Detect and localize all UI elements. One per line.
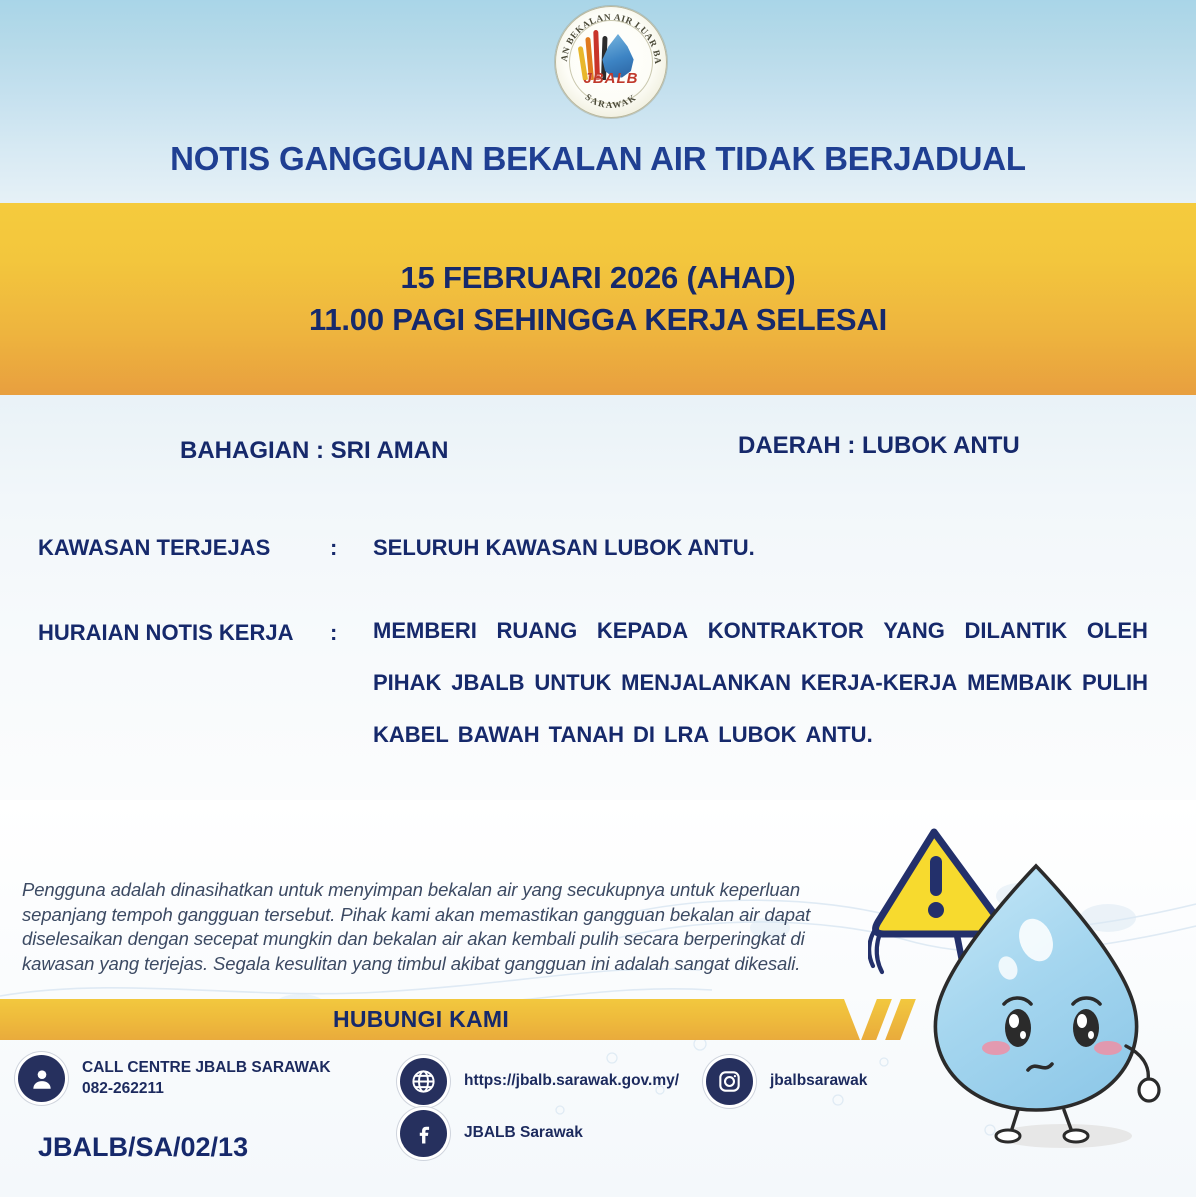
contact-call-centre[interactable]: CALL CENTRE JBALB SARAWAK 082-262211 <box>18 1055 331 1102</box>
svg-text:SARAWAK: SARAWAK <box>583 92 638 110</box>
word: OLEH <box>1087 620 1148 642</box>
contact-website[interactable]: https://jbalb.sarawak.gov.my/ <box>400 1058 679 1105</box>
word: BAWAH <box>458 724 540 746</box>
work-description-line-1: MEMBERIRUANGKEPADAKONTRAKTORYANGDILANTIK… <box>373 620 1148 642</box>
page-title: NOTIS GANGGUAN BEKALAN AIR TIDAK BERJADU… <box>0 140 1196 178</box>
word: UNTUK <box>534 672 611 694</box>
work-description-label: HURAIAN NOTIS KERJA <box>38 620 293 646</box>
word: DILANTIK <box>965 620 1068 642</box>
word: LUBOK <box>718 724 796 746</box>
facebook-icon <box>400 1110 447 1157</box>
division-label: BAHAGIAN : SRI AMAN <box>180 437 448 465</box>
call-centre-label: CALL CENTRE JBALB SARAWAK <box>82 1058 331 1079</box>
work-description-value: MEMBERIRUANGKEPADAKONTRAKTORYANGDILANTIK… <box>373 620 1148 746</box>
contact-facebook[interactable]: JBALB Sarawak <box>400 1110 583 1157</box>
instagram-handle: jbalbsarawak <box>770 1071 867 1092</box>
word: KERJA-KERJA <box>801 672 957 694</box>
contact-banner-title: HUBUNGI KAMI <box>333 1006 509 1033</box>
word: YANG <box>883 620 945 642</box>
word: TANAH <box>549 724 624 746</box>
work-description-line-2: PIHAKJBALBUNTUKMENJALANKANKERJA-KERJAMEM… <box>373 672 1148 694</box>
word: MENJALANKAN <box>621 672 791 694</box>
word: ANTU. <box>805 724 872 746</box>
district-label: DAERAH : LUBOK ANTU <box>738 432 1020 460</box>
word: RUANG <box>497 620 578 642</box>
water-droplet-mascot <box>868 818 1196 1166</box>
instagram-icon <box>706 1058 753 1105</box>
word: KABEL <box>373 724 449 746</box>
water-disruption-notice-poster: JABATAN BEKALAN AIR LUAR BANDAR SARAWAK … <box>0 0 1196 1197</box>
work-description-colon: : <box>330 620 337 646</box>
work-description-line-3: KABELBAWAHTANAHDILRALUBOKANTU. <box>373 724 1148 746</box>
word: JBALB <box>451 672 524 694</box>
call-centre-number: 082-262211 <box>82 1079 331 1100</box>
location-row: BAHAGIAN : SRI AMAN DAERAH : LUBOK ANTU <box>0 437 1196 471</box>
word: DI <box>633 724 655 746</box>
logo-arc-bottom-label: SARAWAK <box>583 92 638 110</box>
schedule-date: 15 FEBRUARI 2026 (AHAD) <box>400 260 795 296</box>
word: PULIH <box>1082 672 1148 694</box>
word: LRA <box>664 724 709 746</box>
facebook-page: JBALB Sarawak <box>464 1123 583 1144</box>
affected-area-colon: : <box>330 535 337 561</box>
word: MEMBERI <box>373 620 477 642</box>
schedule-banner: 15 FEBRUARI 2026 (AHAD) 11.00 PAGI SEHIN… <box>0 203 1196 395</box>
contact-instagram[interactable]: jbalbsarawak <box>706 1058 867 1105</box>
word: PIHAK <box>373 672 441 694</box>
word: KEPADA <box>597 620 688 642</box>
person-icon <box>18 1055 65 1102</box>
word: MEMBAIK <box>967 672 1072 694</box>
website-url: https://jbalb.sarawak.gov.my/ <box>464 1071 679 1092</box>
notice-body: BAHAGIAN : SRI AMAN DAERAH : LUBOK ANTU … <box>0 395 1196 800</box>
schedule-time: 11.00 PAGI SEHINGGA KERJA SELESAI <box>309 302 887 338</box>
contact-banner: HUBUNGI KAMI <box>0 999 860 1040</box>
jbalb-logo: JABATAN BEKALAN AIR LUAR BANDAR SARAWAK … <box>545 2 675 124</box>
logo-wordmark: JBALB <box>555 70 667 87</box>
advisory-paragraph: Pengguna adalah dinasihatkan untuk menyi… <box>22 878 852 976</box>
affected-area-label: KAWASAN TERJEJAS <box>38 535 270 561</box>
word: KONTRAKTOR <box>708 620 864 642</box>
affected-area-value: SELURUH KAWASAN LUBOK ANTU. <box>373 535 1148 561</box>
reference-code: JBALB/SA/02/13 <box>38 1132 248 1163</box>
globe-icon <box>400 1058 447 1105</box>
